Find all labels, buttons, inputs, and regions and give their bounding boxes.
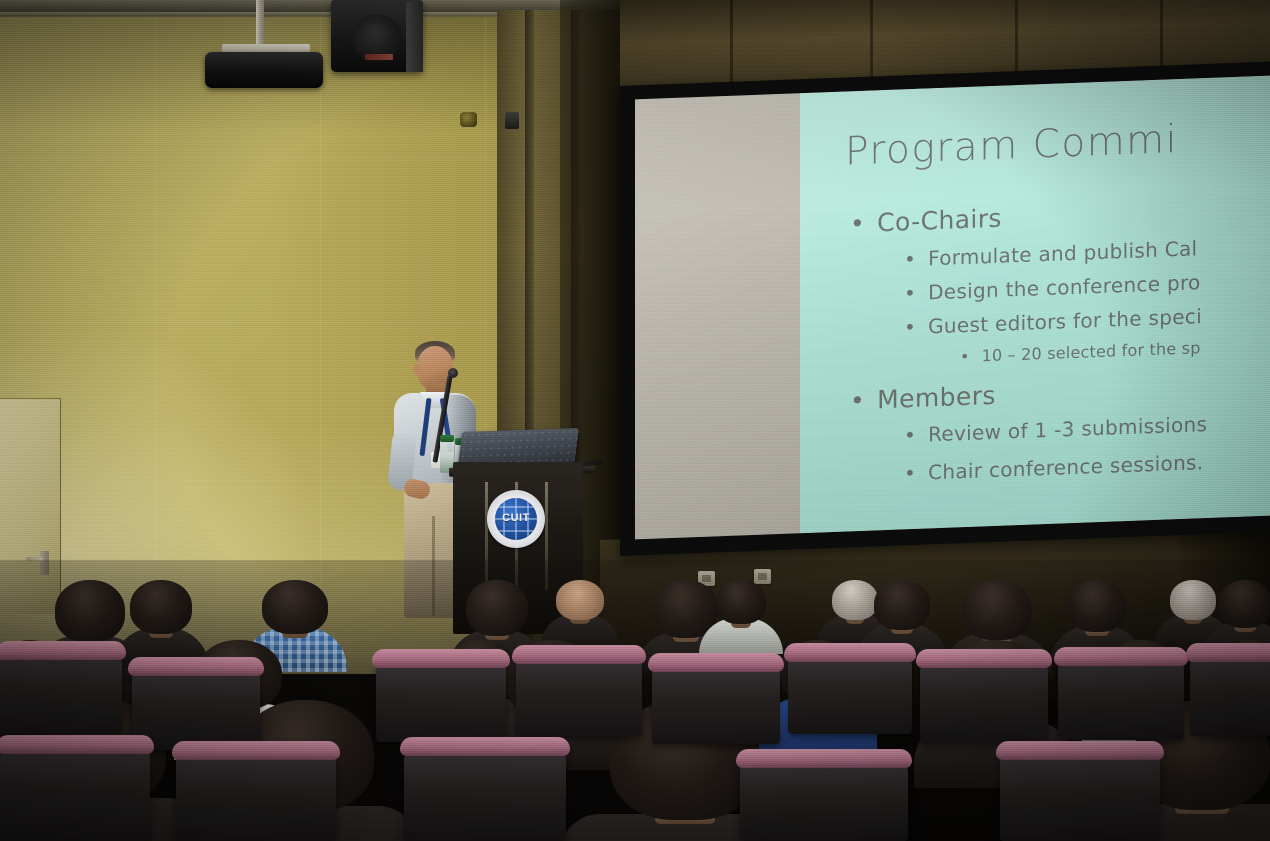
audience-person-head bbox=[832, 580, 878, 620]
bullet-text: Guest editors for the speci bbox=[928, 304, 1202, 338]
slide-bullet-4: •Guest editors for the speci bbox=[904, 304, 1202, 339]
audience-person-head bbox=[874, 580, 930, 630]
slide-bullet-8: •Chair conference sessions. bbox=[904, 450, 1203, 485]
bullet-text: Design the conference pro bbox=[928, 270, 1200, 304]
bullet-text: Members bbox=[877, 381, 996, 414]
audience-person-head bbox=[1170, 580, 1216, 620]
slide-bullet-3: •Design the conference pro bbox=[904, 270, 1201, 305]
auditorium-seat bbox=[404, 744, 566, 841]
slide-bullet-6: •Members bbox=[850, 381, 996, 415]
speaker-side-panel bbox=[406, 2, 423, 72]
audience-person-head bbox=[962, 580, 1032, 640]
auditorium-seat bbox=[788, 650, 912, 734]
bullet-text: Chair conference sessions. bbox=[928, 450, 1203, 484]
bullet-marker: • bbox=[850, 386, 865, 416]
speaker-brand-logo bbox=[365, 54, 393, 60]
auditorium-seat bbox=[920, 656, 1048, 742]
auditorium-seat bbox=[0, 742, 150, 841]
slide-bullet-7: •Review of 1 -3 submissions bbox=[904, 412, 1207, 447]
audience-person-head bbox=[716, 580, 766, 624]
auditorium-seat bbox=[132, 664, 260, 750]
audience-person-head bbox=[556, 580, 604, 620]
bullet-marker: • bbox=[904, 423, 916, 447]
audience-person-head bbox=[466, 580, 528, 636]
cuit-emblem-icon: CUIT bbox=[487, 490, 545, 548]
audience-person-head bbox=[130, 580, 192, 634]
projector-icon bbox=[205, 52, 323, 88]
bullet-marker: • bbox=[904, 281, 916, 305]
bullet-text: Review of 1 -3 submissions bbox=[928, 412, 1207, 446]
audience-person-head bbox=[262, 580, 328, 634]
bullet-marker: • bbox=[904, 461, 916, 485]
slide-bullet-5: •10 – 20 selected for the sp bbox=[960, 338, 1201, 366]
emblem-label: CUIT bbox=[487, 512, 545, 524]
projector-mount-pole bbox=[256, 0, 264, 50]
projector-lens-icon bbox=[460, 112, 477, 127]
auditorium-seat bbox=[376, 656, 506, 742]
bullet-marker: • bbox=[904, 247, 916, 271]
slide-bullet-2: •Formulate and publish Cal bbox=[904, 236, 1197, 271]
auditorium-seat bbox=[1000, 748, 1160, 841]
projector-vent bbox=[505, 112, 519, 129]
projection-screen-frame: Program Commi •Co-Chairs •Formulate and … bbox=[620, 62, 1270, 556]
microphone-head-icon bbox=[448, 368, 458, 378]
audience-person-head bbox=[55, 580, 125, 642]
bullet-text: 10 – 20 selected for the sp bbox=[982, 338, 1201, 365]
conference-photo: Program Commi •Co-Chairs •Formulate and … bbox=[0, 0, 1270, 841]
audience-person-head bbox=[1068, 580, 1126, 632]
bullet-text: Formulate and publish Cal bbox=[928, 236, 1197, 270]
bullet-marker: • bbox=[960, 347, 970, 366]
auditorium-seat bbox=[176, 748, 336, 841]
projected-slide: Program Commi •Co-Chairs •Formulate and … bbox=[800, 76, 1270, 534]
auditorium-seat bbox=[740, 756, 908, 841]
auditorium-seat bbox=[652, 660, 780, 744]
slide-bullet-1: •Co-Chairs bbox=[850, 204, 1002, 239]
slide-title: Program Commi bbox=[845, 117, 1178, 175]
bullet-marker: • bbox=[904, 315, 916, 339]
bullet-text: Co-Chairs bbox=[877, 204, 1002, 238]
auditorium-seat bbox=[0, 648, 122, 734]
auditorium-seat bbox=[1190, 650, 1270, 736]
audience-person-head bbox=[1218, 580, 1270, 628]
bullet-marker: • bbox=[850, 209, 865, 239]
presenter-ear bbox=[413, 364, 421, 375]
auditorium-seat bbox=[1058, 654, 1184, 740]
projection-screen-surface: Program Commi •Co-Chairs •Formulate and … bbox=[635, 76, 1270, 540]
auditorium-seat bbox=[516, 652, 642, 736]
